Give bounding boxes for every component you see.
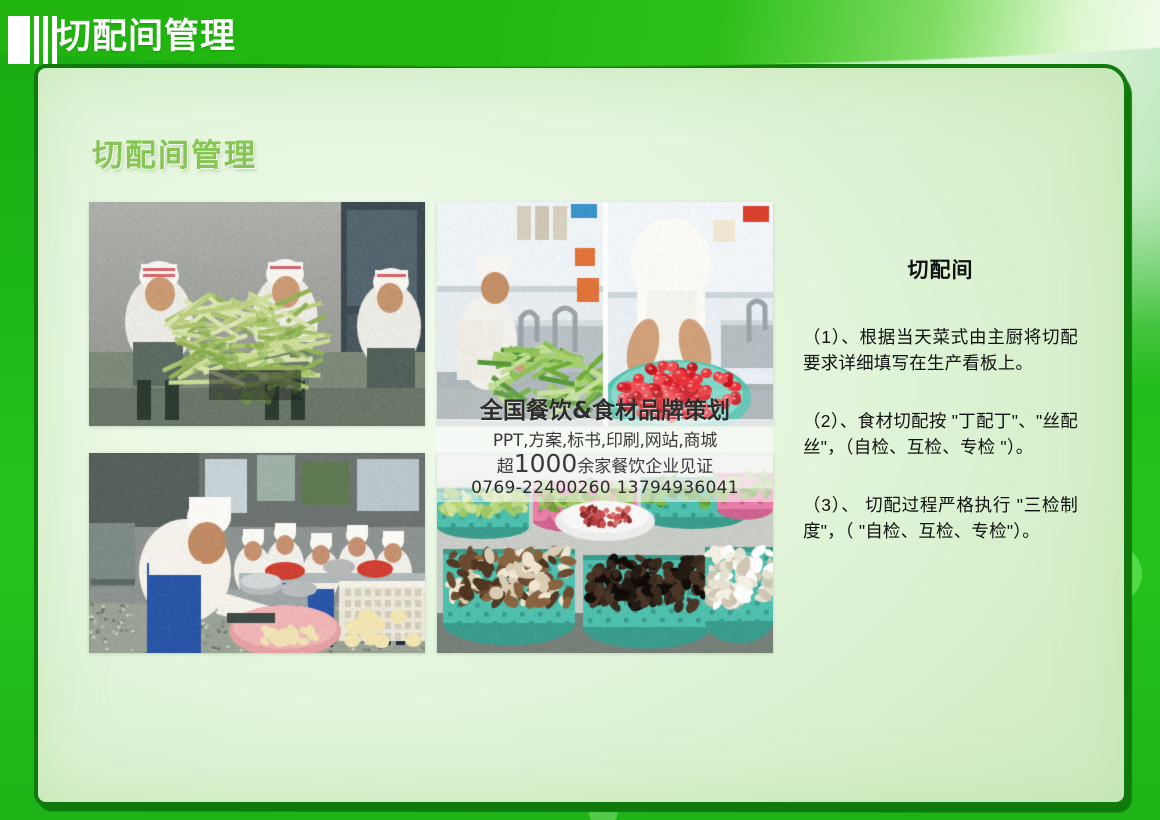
header-bars-icon (8, 16, 58, 64)
bar-1-icon (34, 16, 39, 64)
text-column: 切配间 （1）、根据当天菜式由主厨将切配要求详细填写在生产看板上。 （2）、食材… (803, 254, 1078, 544)
text-paragraph-3: （3）、 切配过程严格执行 "三检制度"，（ "自检、互检、专检"）。 (803, 492, 1078, 544)
page-title: 切配间管理 (92, 130, 257, 175)
photo-chefs-trimming-greens (89, 202, 425, 426)
bar-2-icon (43, 16, 48, 64)
bar-block-icon (8, 16, 30, 64)
header-title: 切配间管理 (56, 11, 236, 63)
photo-prepped-baskets (437, 453, 773, 653)
content-panel-wrapper: 切配间管理 全国餐饮&食材品牌策划 PPT,方案,标书,印刷,网站,商城 超10… (34, 64, 1128, 806)
text-column-heading: 切配间 (803, 254, 1078, 284)
content-panel: 切配间管理 全国餐饮&食材品牌策划 PPT,方案,标书,印刷,网站,商城 超10… (34, 64, 1128, 806)
photo-washing-and-sorting (437, 202, 773, 426)
photo-cutting-station (89, 453, 425, 653)
text-paragraph-2: （2）、食材切配按 "丁配丁"、"丝配丝"，（自检、互检、专检 "）。 (803, 408, 1078, 460)
text-paragraph-1: （1）、根据当天菜式由主厨将切配要求详细填写在生产看板上。 (803, 324, 1078, 376)
slide-header: 切配间管理 (0, 0, 1160, 78)
watermark-line-2: PPT,方案,标书,印刷,网站,商城 (437, 426, 773, 451)
slide-root: 切配间管理 切配间管理 全国餐饮&食材品牌策划 PP (0, 0, 1160, 820)
